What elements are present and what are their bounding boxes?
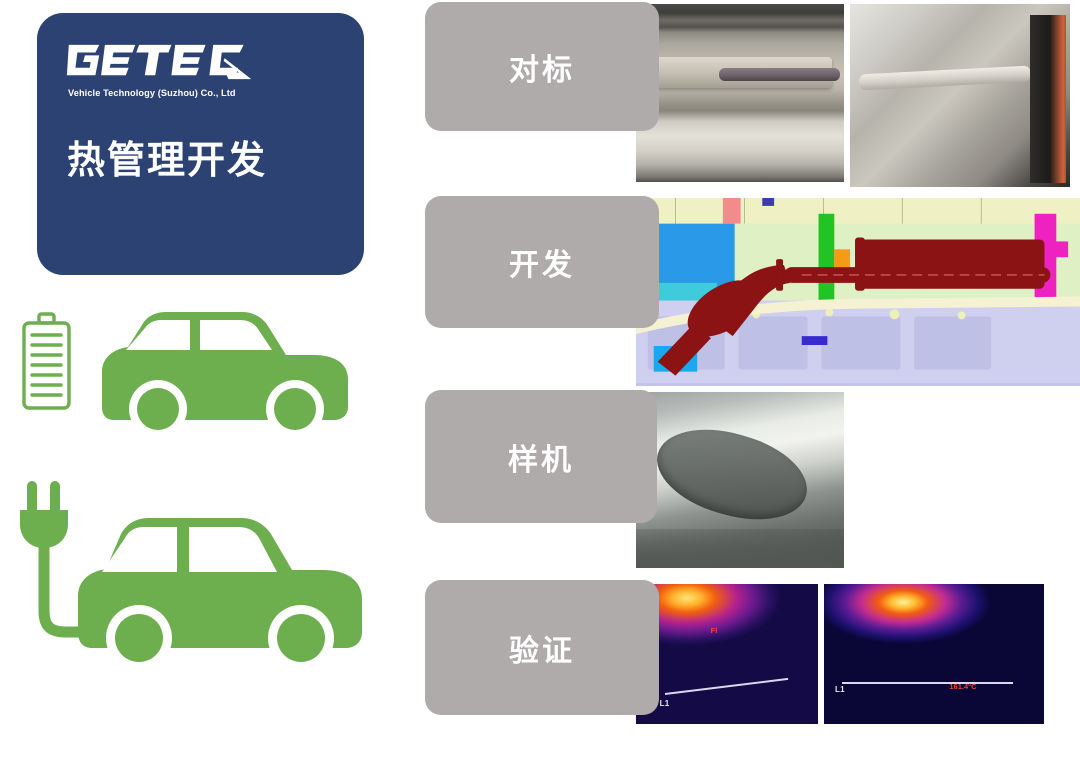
ir-line-label: L1 (835, 685, 845, 694)
ir-temp-label: 161.4°C (949, 682, 976, 691)
media-strip (636, 390, 1080, 568)
company-logo: Vehicle Technology (Suzhou) Co., Ltd (65, 41, 337, 99)
stage-label-validation[interactable]: 验证 (425, 580, 659, 715)
media-strip (636, 2, 1080, 192)
prototype-muffler-photo (636, 392, 844, 568)
cad-exhaust-render (636, 198, 1080, 386)
ir-measure-line (665, 678, 788, 695)
stage-row-development: 开发 (425, 196, 1080, 386)
underbody-piping-photo (850, 4, 1070, 187)
stage-label-prototype[interactable]: 样机 (425, 390, 657, 523)
ir-measure-line (842, 682, 1014, 684)
ir-line-label: L1 (660, 699, 670, 708)
stage-row-validation: L1 Fl L1 161.4°C 验证 (425, 580, 1080, 727)
undercarriage-exhaust-photo (636, 4, 844, 182)
brand-card: Vehicle Technology (Suzhou) Co., Ltd 热管理… (37, 13, 364, 275)
getec-wordmark-icon (65, 41, 255, 83)
battery-car-icon (14, 297, 374, 442)
stage-row-prototype: 样机 (425, 390, 1080, 568)
media-strip: L1 Fl L1 161.4°C (636, 580, 1080, 727)
plug-car-icon (10, 468, 385, 703)
ir-temp-label: Fl (711, 626, 718, 635)
page-title: 热管理开发 (67, 141, 267, 183)
company-subtitle: Vehicle Technology (Suzhou) Co., Ltd (68, 88, 329, 99)
stage-row-benchmarking: 对标 (425, 2, 1080, 192)
slide-canvas: Vehicle Technology (Suzhou) Co., Ltd 热管理… (0, 0, 1080, 781)
media-strip (636, 196, 1080, 386)
stage-label-benchmarking[interactable]: 对标 (425, 2, 659, 131)
thermal-image-left: L1 Fl (636, 584, 818, 724)
thermal-image-right: L1 161.4°C (824, 584, 1044, 724)
stage-label-development[interactable]: 开发 (425, 196, 659, 328)
